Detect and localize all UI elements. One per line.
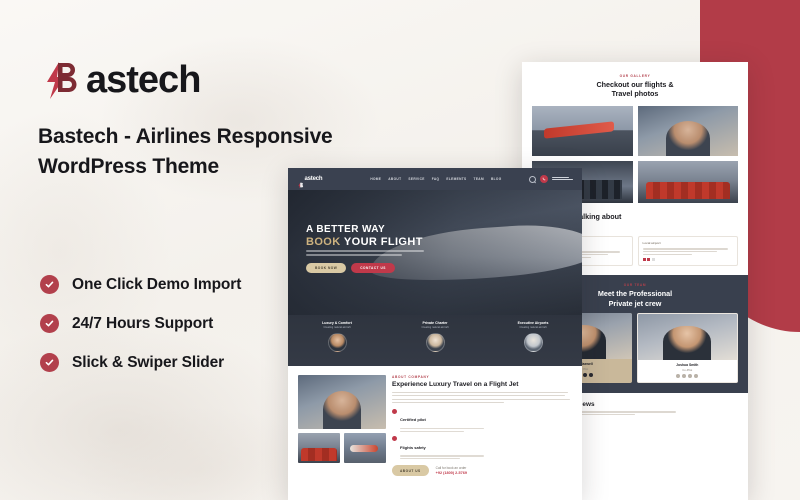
check-circle-icon [40,353,59,372]
list-item: One Click Demo Import [40,275,241,294]
bullet-desc [400,428,484,432]
check-circle-icon [392,436,397,441]
feature-card-image [524,333,543,352]
gallery-photo[interactable] [638,161,739,203]
feature-card-title: Private Charter [404,321,466,325]
page-title: Bastech - Airlines Responsive WordPress … [38,122,358,183]
brand-logo-text: astech [86,61,200,99]
testimonial-card-label: Local airport [643,241,734,245]
rating-stars [643,258,734,261]
check-circle-icon [392,409,397,414]
crew-role: Co-Pilot [640,368,736,372]
check-circle-icon [40,275,59,294]
nav-item-team[interactable]: TEAM [474,177,484,181]
feature-card[interactable]: Private Charter Creating natural aircraf… [404,321,466,366]
list-item: Flights safety [392,436,572,460]
crew-photo [638,314,738,360]
luxury-cta: ABOUT US Call for book an order +92 (180… [392,465,572,475]
bullet-title: Certified pilot [400,417,426,422]
left-info-panel: astech Bastech - Airlines Responsive Wor… [38,0,368,500]
section-eyebrow: ABOUT COMPANY [392,375,572,379]
list-item: Certified pilot [392,408,572,432]
feature-card-desc: Creating natural aircraft [502,326,564,330]
nav-item-blog[interactable]: BLOG [491,177,502,181]
feature-list: One Click Demo Import 24/7 Hours Support… [40,275,241,372]
social-icons[interactable] [640,374,736,378]
list-item: Slick & Swiper Slider [40,353,241,372]
search-icon[interactable] [529,176,536,183]
crew-title-line2: Private jet crew [609,299,662,308]
contact-info[interactable] [552,177,573,182]
nav-item-about[interactable]: ABOUT [388,177,401,181]
bullet-desc [400,455,484,459]
gallery-title-line2: Travel photos [612,89,659,98]
list-item[interactable]: Local airport [638,236,739,266]
nav-item-service[interactable]: SERVICE [408,177,424,181]
mock-nav-links[interactable]: HOME ABOUT SERVICE FAQ ELEMENTS TEAM BLO… [370,177,501,181]
gallery-photo[interactable] [532,106,633,156]
nav-item-faq[interactable]: FAQ [432,177,440,181]
crew-title-line1: Meet the Professional [598,289,672,298]
testimonial-body [643,248,734,255]
luxury-bullet-list: Certified pilot Flights safety [392,408,572,459]
luxury-paragraph [392,392,572,403]
phone-icon[interactable] [540,175,548,183]
section-eyebrow: OUR GALLERY [532,74,738,78]
luxury-title: Experience Luxury Travel on a Flight Jet [392,381,572,390]
about-us-button[interactable]: ABOUT US [392,465,429,475]
lightning-bolt-b-icon [38,58,82,102]
gallery-photo[interactable] [638,106,739,156]
feature-label: 24/7 Hours Support [72,315,213,333]
section-title: Checkout our flights & Travel photos [532,80,738,99]
list-item: 24/7 Hours Support [40,314,241,333]
cta-label: Call for book an order [436,466,467,470]
check-circle-icon [40,314,59,333]
nav-item-elements[interactable]: ELEMENTS [446,177,466,181]
feature-card[interactable]: Executive Airports Creating natural airc… [502,321,564,366]
nav-item-home[interactable]: HOME [370,177,381,181]
feature-card-title: Executive Airports [502,321,564,325]
feature-card-desc: Creating natural aircraft [404,326,466,330]
feature-label: One Click Demo Import [72,276,241,294]
gallery-title-line1: Checkout our flights & [596,80,673,89]
brand-logo: astech [38,58,200,102]
crew-name: Joshua Smith [640,363,736,367]
list-item[interactable]: Joshua Smith Co-Pilot [637,313,739,383]
mock-nav-actions [529,175,573,183]
feature-card-image [426,333,445,352]
cta-phone[interactable]: +92 (1800) 2-5769 [436,471,467,475]
bullet-title: Flights safety [400,445,426,450]
feature-label: Slick & Swiper Slider [72,354,224,372]
